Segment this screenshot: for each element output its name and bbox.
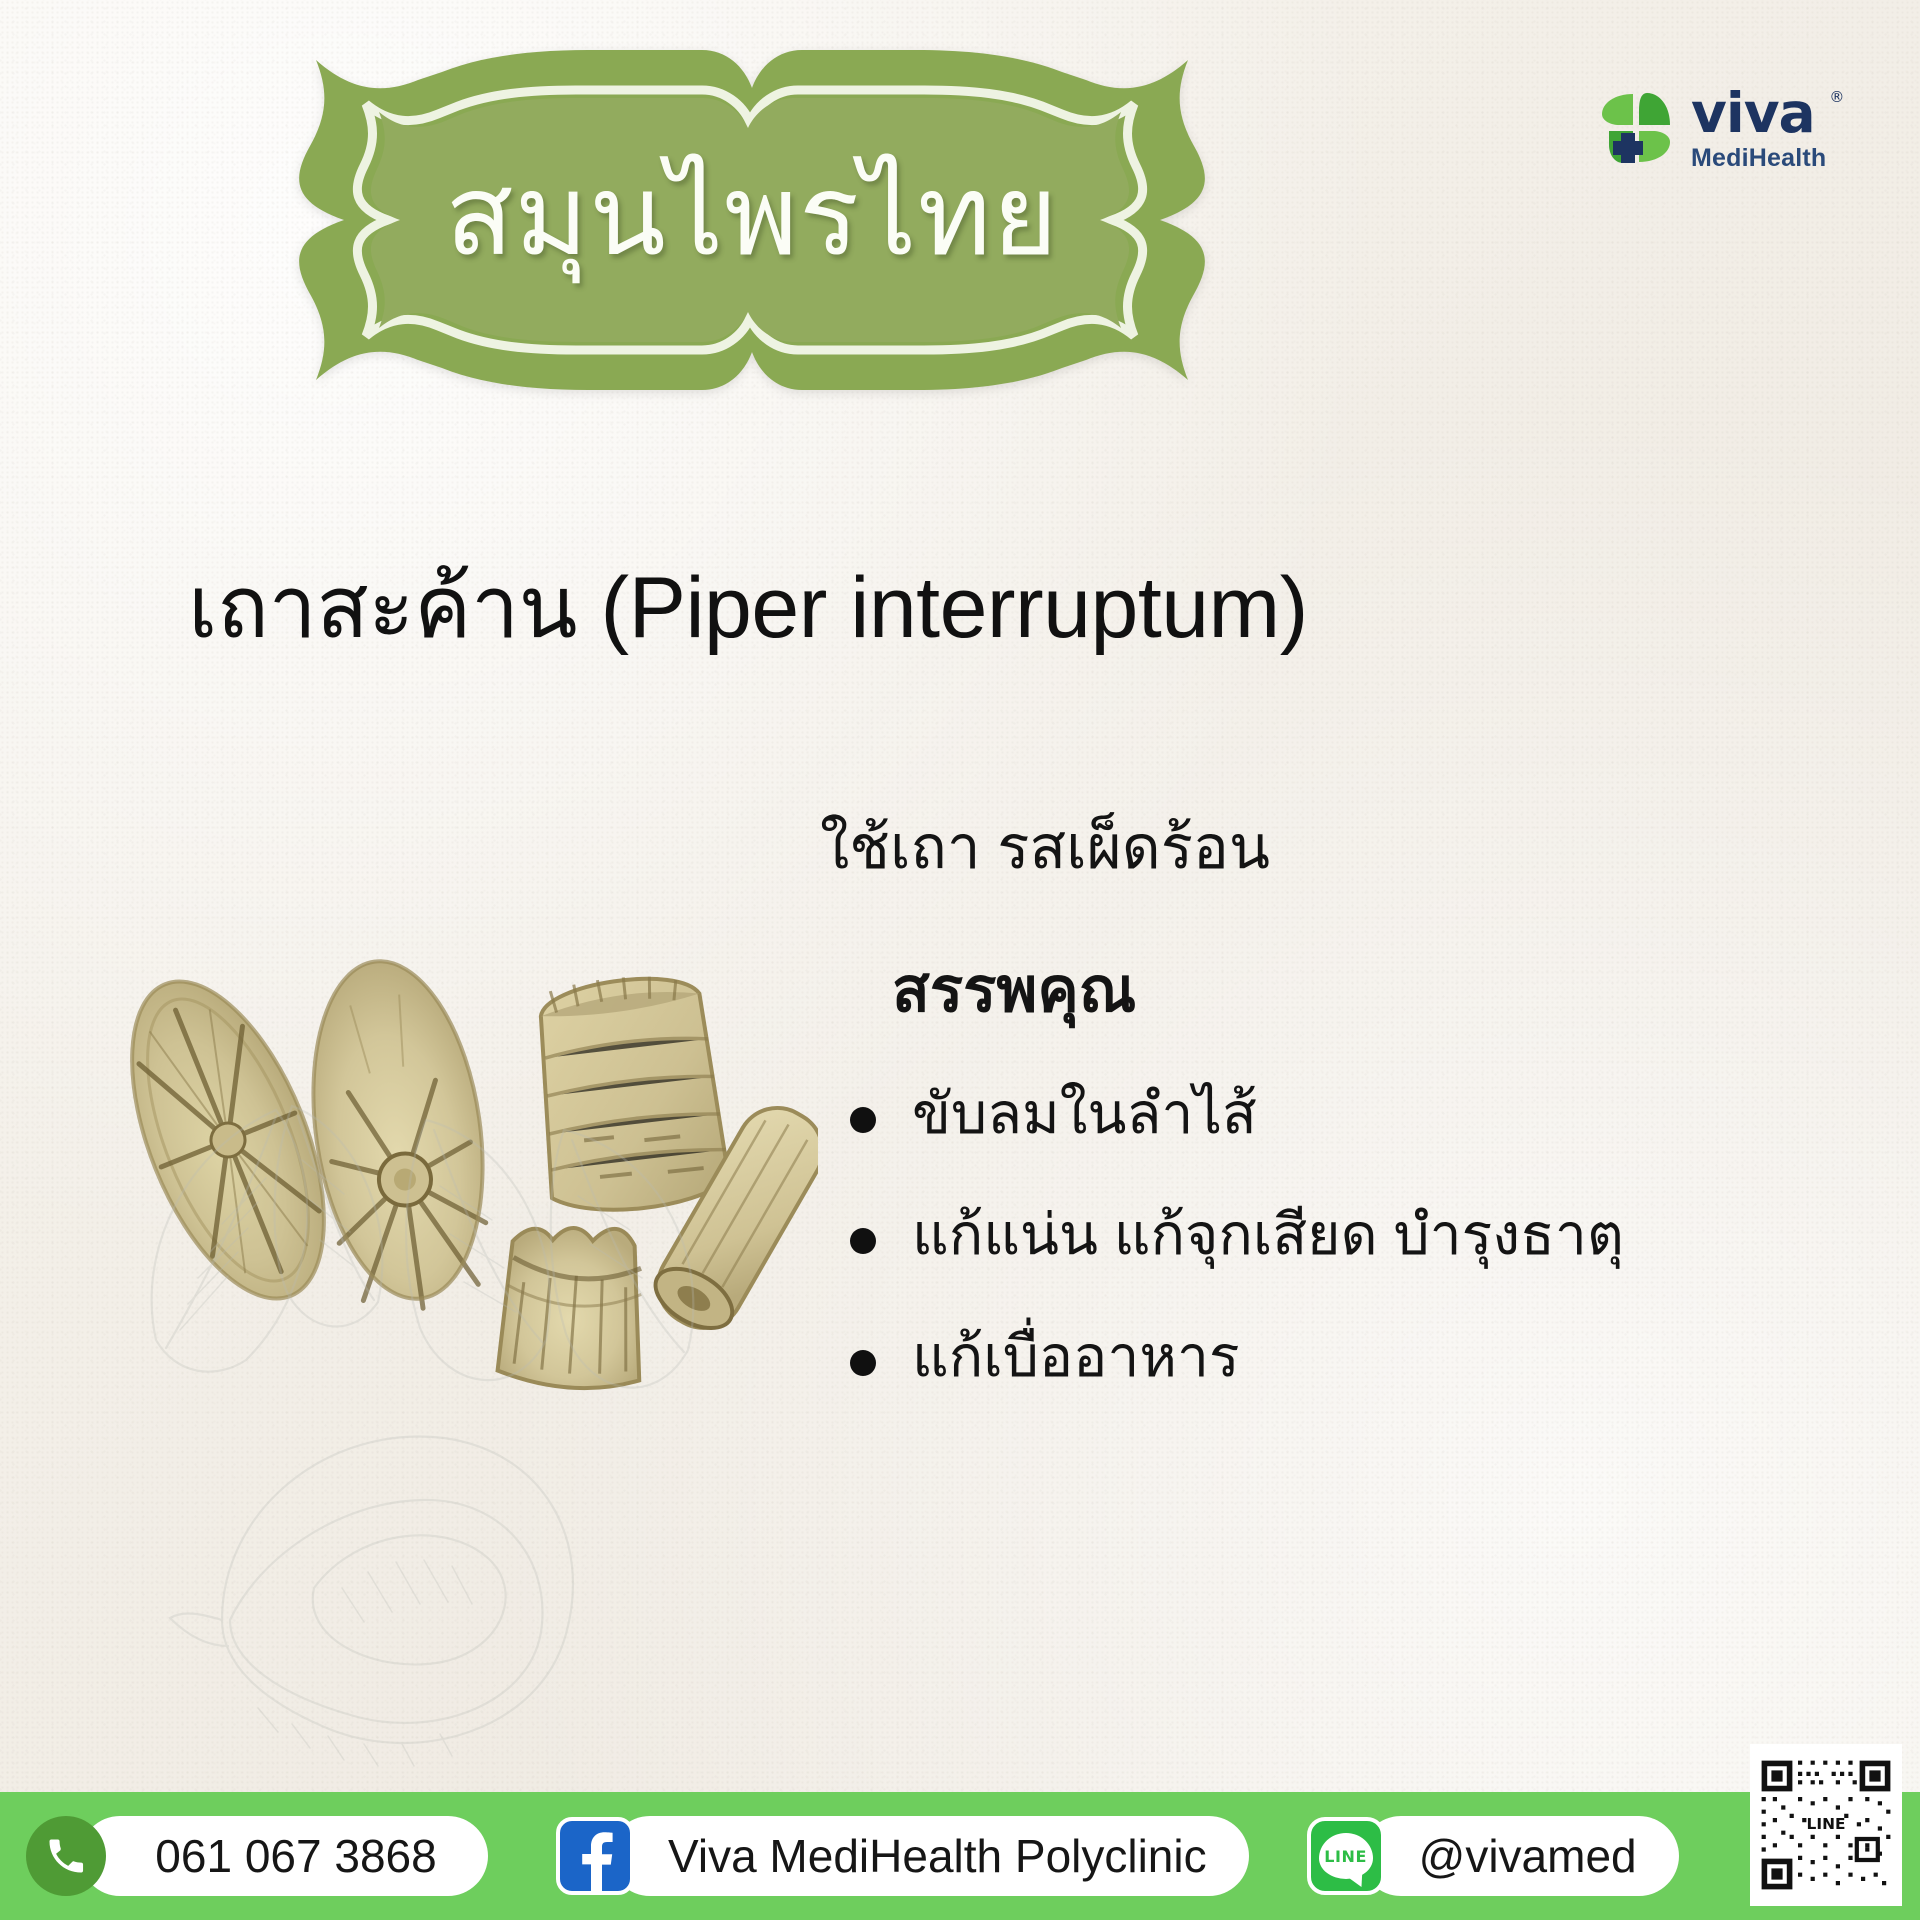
line-wordmark: LINE: [1324, 1847, 1367, 1866]
line-qr-code[interactable]: LINE: [1750, 1744, 1902, 1906]
herb-photo: [78, 890, 818, 1430]
benefits-heading: สรรพคุณ: [812, 941, 1872, 1039]
header-banner: สมุนไพรไทย: [232, 50, 1272, 390]
registered-mark: ®: [1829, 90, 1843, 105]
line-chat-icon: LINE: [1307, 1817, 1385, 1895]
footer-contact-bar: 061 067 3868 Viva MediHealth Polyclinic …: [0, 1792, 1920, 1920]
bullet-icon: [850, 1228, 876, 1254]
banner-title: สมุนไพรไทย: [232, 50, 1272, 390]
page-title: เถาสะค้าน (Piper interruptum): [188, 538, 1748, 675]
benefits-list: ขับลมในลำไส้ แก้แน่น แก้จุกเสียด บำรุงธา…: [812, 1079, 1872, 1393]
brand-subtitle: MediHealth: [1691, 146, 1826, 171]
facebook-f-icon: [556, 1817, 634, 1895]
list-item: ขับลมในลำไส้: [812, 1079, 1872, 1150]
usage-text: ใช้เถา รสเผ็ดร้อน: [812, 800, 1872, 895]
benefit-text: แก้แน่น แก้จุกเสียด บำรุงธาตุ: [912, 1200, 1624, 1271]
facebook-page-name[interactable]: Viva MediHealth Polyclinic: [610, 1816, 1249, 1896]
brand-logo: viva® MediHealth: [1597, 84, 1826, 171]
list-item: แก้แน่น แก้จุกเสียด บำรุงธาตุ: [812, 1200, 1872, 1271]
viva-leaf-cross-icon: [1597, 89, 1675, 167]
phone-handset-icon: [26, 1816, 106, 1896]
benefit-text: ขับลมในลำไส้: [912, 1079, 1257, 1150]
facebook-contact[interactable]: Viva MediHealth Polyclinic: [556, 1816, 1249, 1896]
phone-contact[interactable]: 061 067 3868: [26, 1816, 488, 1896]
herbal-info-poster: สมุนไพรไทย viva® MediHealth เถาสะค้าน (P…: [0, 0, 1920, 1920]
brand-name: viva®: [1691, 86, 1826, 141]
benefit-text: แก้เบื่ออาหาร: [912, 1322, 1240, 1393]
line-id[interactable]: @vivamed: [1361, 1816, 1679, 1896]
bullet-icon: [850, 1350, 876, 1376]
line-bubble-shape: LINE: [1319, 1833, 1373, 1879]
bullet-icon: [850, 1107, 876, 1133]
brand-name-text: viva: [1691, 81, 1815, 145]
line-contact[interactable]: LINE @vivamed: [1307, 1816, 1679, 1896]
phone-number[interactable]: 061 067 3868: [80, 1816, 488, 1896]
info-panel: ใช้เถา รสเผ็ดร้อน สรรพคุณ ขับลมในลำไส้ แ…: [812, 800, 1872, 1443]
list-item: แก้เบื่ออาหาร: [812, 1322, 1872, 1393]
